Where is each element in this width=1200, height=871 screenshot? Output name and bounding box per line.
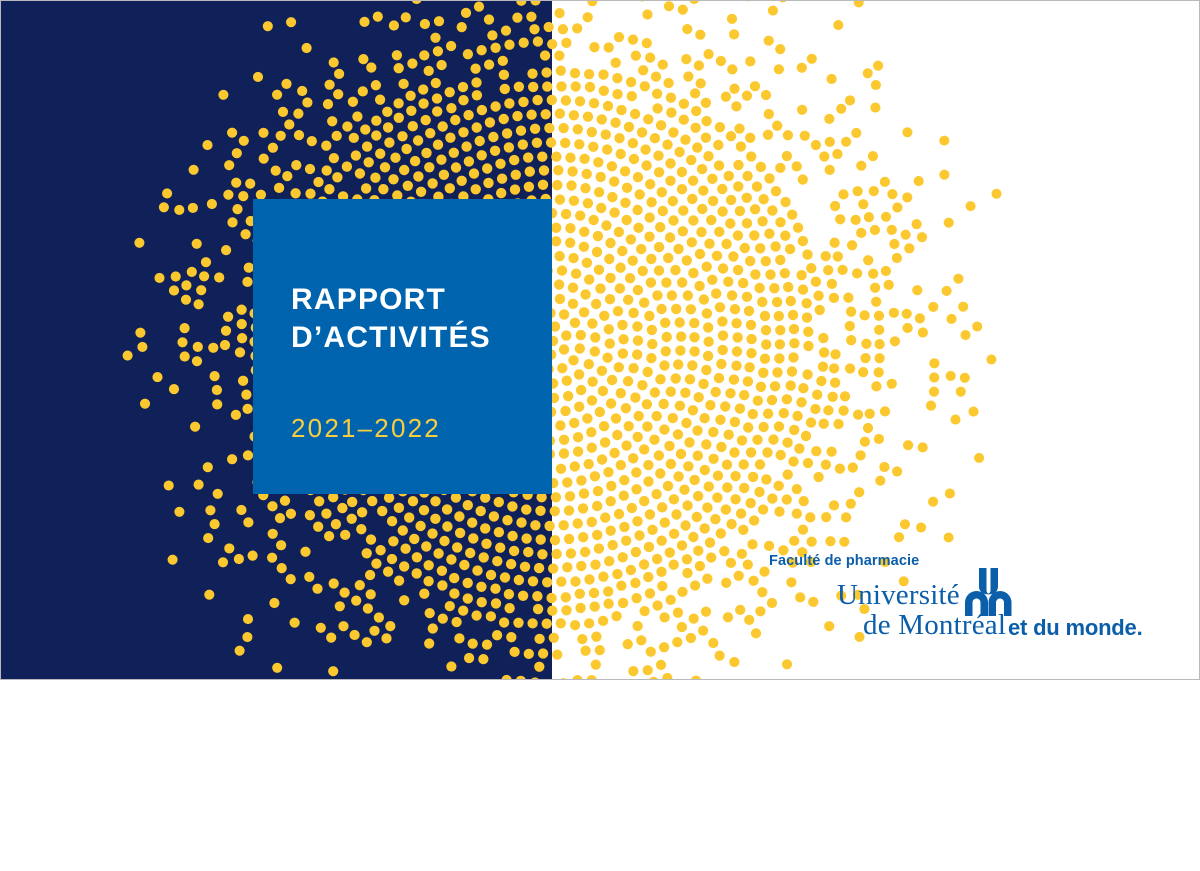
report-years: 2021–2022 — [291, 358, 541, 444]
title-block: RAPPORT D’ACTIVITÉS 2021–2022 — [291, 281, 541, 444]
title-card: RAPPORT D’ACTIVITÉS 2021–2022 — [253, 199, 552, 494]
page-title: RAPPORT D’ACTIVITÉS — [291, 281, 541, 358]
cover-page-canvas: RAPPORT D’ACTIVITÉS 2021–2022 Faculté de… — [0, 0, 1200, 871]
udem-pharmacy-logo: Faculté de pharmacie Université de Montr… — [764, 553, 1159, 645]
logo-university-lockup: Université de Montréal et du monde. — [764, 579, 1159, 645]
logo-university-line1: Université — [837, 579, 960, 612]
udem-crest-icon — [965, 568, 1017, 616]
logo-faculty-label: Faculté de pharmacie — [764, 553, 1159, 569]
logo-tagline: et du monde. — [1008, 615, 1143, 641]
document-page: RAPPORT D’ACTIVITÉS 2021–2022 Faculté de… — [0, 0, 1200, 680]
